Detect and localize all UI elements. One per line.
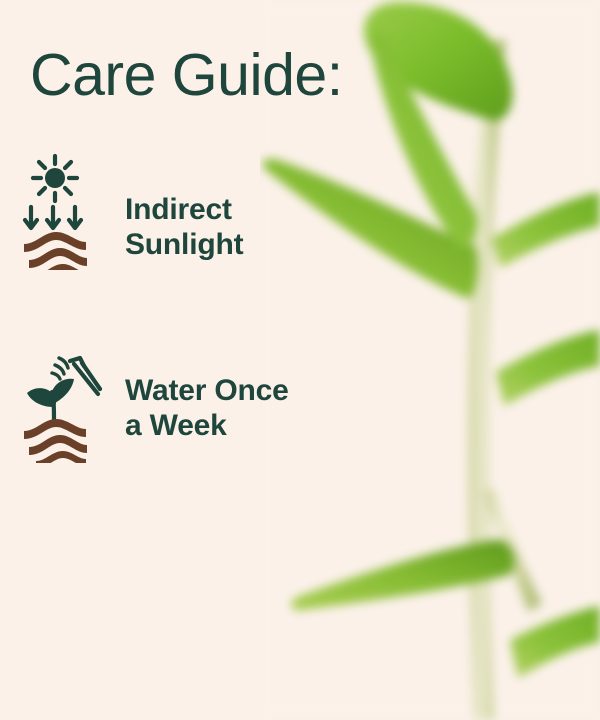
page-title: Care Guide: xyxy=(30,46,343,105)
plant-stem xyxy=(468,40,506,720)
watering-seedling-icon xyxy=(22,345,106,463)
plant-leaf-mid-left xyxy=(370,33,478,248)
plant-leaf-upper-left xyxy=(263,159,478,299)
care-guide-card: Care Guide: xyxy=(0,0,600,720)
sun-over-soil-icon xyxy=(22,152,106,270)
care-item-label: Indirect Sunlight xyxy=(125,152,243,262)
care-item-indirect-sunlight: Indirect Sunlight xyxy=(22,152,243,270)
plant-illustration xyxy=(260,0,600,720)
plant-leaf-top xyxy=(364,2,513,121)
soil-waves-icon xyxy=(24,419,87,463)
spray-nozzle-icon xyxy=(70,358,100,394)
plant-leaf-upper-right xyxy=(492,192,600,268)
plant-leaf-lower-left xyxy=(291,540,514,610)
care-item-water-once-a-week: Water Once a Week xyxy=(22,345,289,463)
down-arrow-icon xyxy=(25,207,81,228)
sun-icon xyxy=(45,168,65,188)
spray-lines-icon xyxy=(52,358,68,379)
plant-leaf-mid-right xyxy=(496,330,600,406)
plant-stem-lower xyxy=(482,488,542,612)
soil-waves-icon xyxy=(24,232,87,270)
plant-leaf-lower-right xyxy=(510,606,600,678)
seedling-leaf-right-icon xyxy=(51,379,74,404)
care-item-label: Water Once a Week xyxy=(125,345,289,443)
plant-photo xyxy=(260,0,600,720)
